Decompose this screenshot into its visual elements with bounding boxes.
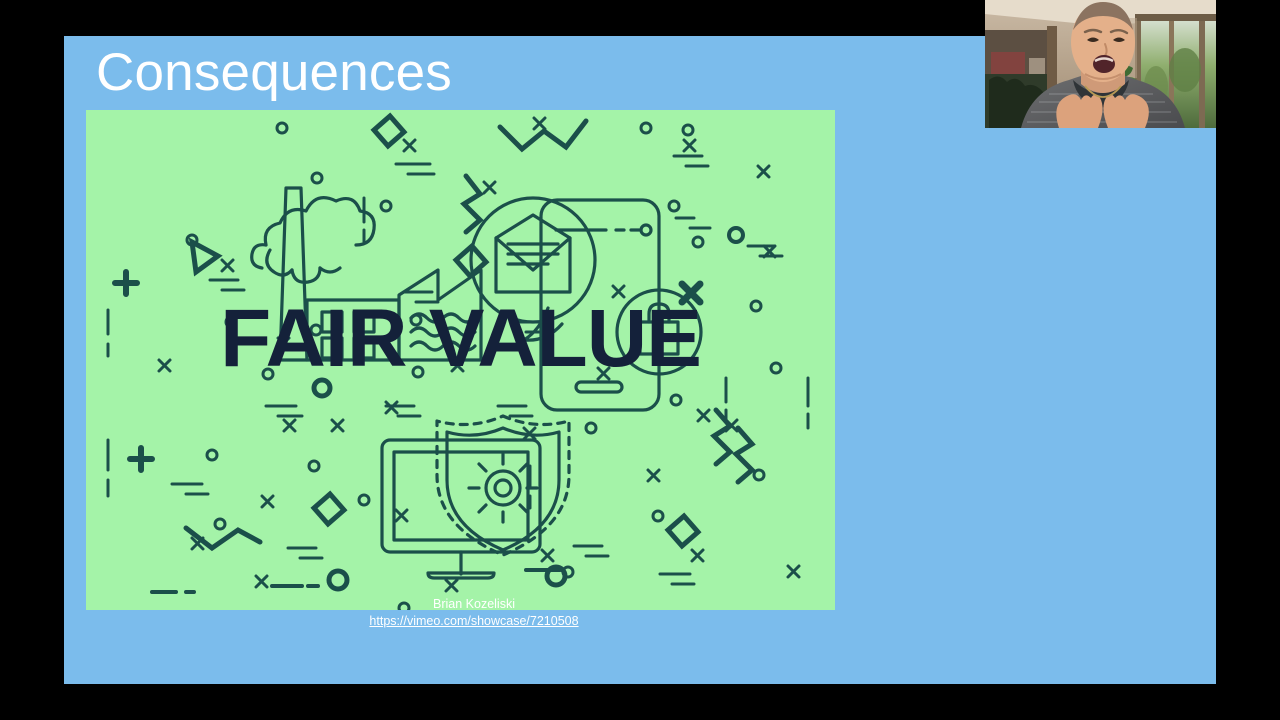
slide-footer: Brian Kozeliski https://vimeo.com/showca… <box>64 596 884 630</box>
presentation-slide: Consequences <box>64 36 1216 684</box>
footer-author: Brian Kozeliski <box>433 597 515 611</box>
smoke-cloud-icon <box>252 198 375 283</box>
video-frame <box>985 0 1216 128</box>
artwork-panel: FAIR VALUE <box>86 110 835 610</box>
footer-link[interactable]: https://vimeo.com/showcase/7210508 <box>64 613 884 630</box>
page-title: Consequences <box>96 44 452 102</box>
presenter-video-feed[interactable] <box>985 0 1216 128</box>
monitor-icon <box>382 440 540 578</box>
artwork-headline: FAIR VALUE <box>86 298 835 380</box>
shield-gear-icon <box>437 416 569 555</box>
confetti-long-dash <box>152 570 560 592</box>
confetti-triangle <box>192 242 218 272</box>
screen-canvas: Consequences <box>0 0 1280 720</box>
